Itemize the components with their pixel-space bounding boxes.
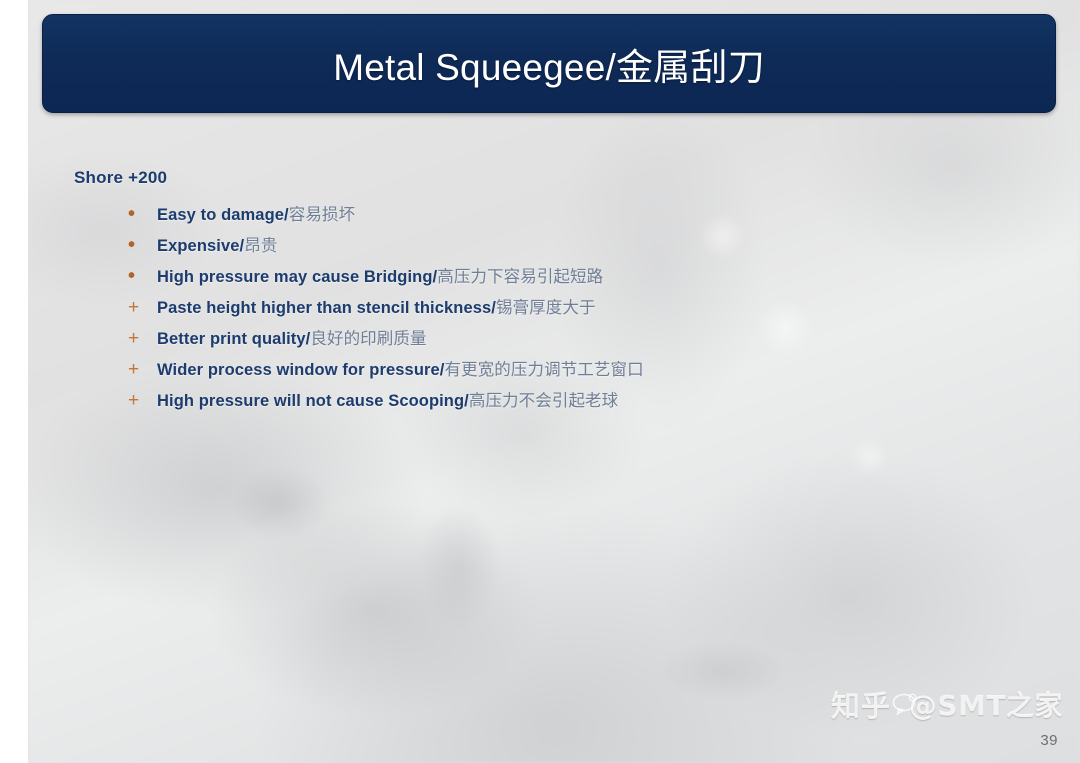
list-item-label-cjk: 良好的印刷质量 — [310, 329, 426, 348]
list-item-label-cjk: 昂贵 — [244, 236, 277, 255]
list-item-label: High pressure may cause Bridging/高压力下容易引… — [157, 263, 603, 287]
list-item-label-cjk: 锡膏厚度大于 — [496, 298, 596, 317]
page-title-en: Metal Squeegee/ — [333, 47, 616, 88]
list-item-label-cjk: 容易损坏 — [289, 205, 355, 224]
list-item-label: Better print quality/良好的印刷质量 — [157, 325, 427, 349]
shore-heading: Shore +200 — [74, 168, 1014, 188]
list-item-label-en: Expensive/ — [157, 237, 244, 255]
list-item-label-en: Wider process window for pressure/ — [157, 361, 445, 379]
bullet-dot-icon: • — [128, 266, 157, 286]
list-item-label-en: High pressure may cause Bridging/ — [157, 268, 437, 286]
bullet-dot-icon: • — [128, 204, 157, 224]
list-item: • High pressure may cause Bridging/高压力下容… — [128, 263, 1014, 294]
list-item: + High pressure will not cause Scooping/… — [128, 387, 1014, 418]
list-item: + Paste height higher than stencil thick… — [128, 294, 1014, 325]
bullet-plus-icon: + — [128, 391, 157, 410]
list-item-label: Easy to damage/容易损坏 — [157, 201, 355, 225]
list-item-label-en: High pressure will not cause Scooping/ — [157, 392, 469, 410]
list-item: + Wider process window for pressure/有更宽的… — [128, 356, 1014, 387]
list-item-label-cjk: 有更宽的压力调节工艺窗口 — [445, 360, 644, 379]
list-item-label-en: Better print quality/ — [157, 330, 310, 348]
list-item-label: High pressure will not cause Scooping/高压… — [157, 387, 618, 411]
page-title-cjk: 金属刮刀 — [616, 46, 765, 89]
bullet-plus-icon: + — [128, 298, 157, 317]
list-item-label-cjk: 高压力下容易引起短路 — [437, 267, 603, 286]
list-item: • Easy to damage/容易损坏 — [128, 201, 1014, 232]
list-item-label: Expensive/昂贵 — [157, 232, 277, 256]
content-body: Shore +200 • Easy to damage/容易损坏 • Expen… — [74, 168, 1014, 418]
bullet-plus-icon: + — [128, 329, 157, 348]
list-item: • Expensive/昂贵 — [128, 232, 1014, 263]
list-item-label: Wider process window for pressure/有更宽的压力… — [157, 356, 644, 380]
title-banner: Metal Squeegee/金属刮刀 — [42, 14, 1056, 113]
list-item-label-cjk: 高压力不会引起老球 — [469, 391, 618, 410]
slide-canvas: Metal Squeegee/金属刮刀 Shore +200 • Easy to… — [28, 0, 1080, 763]
page-number: 39 — [1040, 732, 1058, 749]
list-item-label-en: Easy to damage/ — [157, 206, 289, 224]
bullet-plus-icon: + — [128, 360, 157, 379]
list-item-label: Paste height higher than stencil thickne… — [157, 294, 596, 318]
list-item-label-en: Paste height higher than stencil thickne… — [157, 299, 496, 317]
page-title: Metal Squeegee/金属刮刀 — [333, 37, 765, 91]
bullet-list: • Easy to damage/容易损坏 • Expensive/昂贵 • H… — [128, 201, 1014, 418]
list-item: + Better print quality/良好的印刷质量 — [128, 325, 1014, 356]
bullet-dot-icon: • — [128, 235, 157, 255]
